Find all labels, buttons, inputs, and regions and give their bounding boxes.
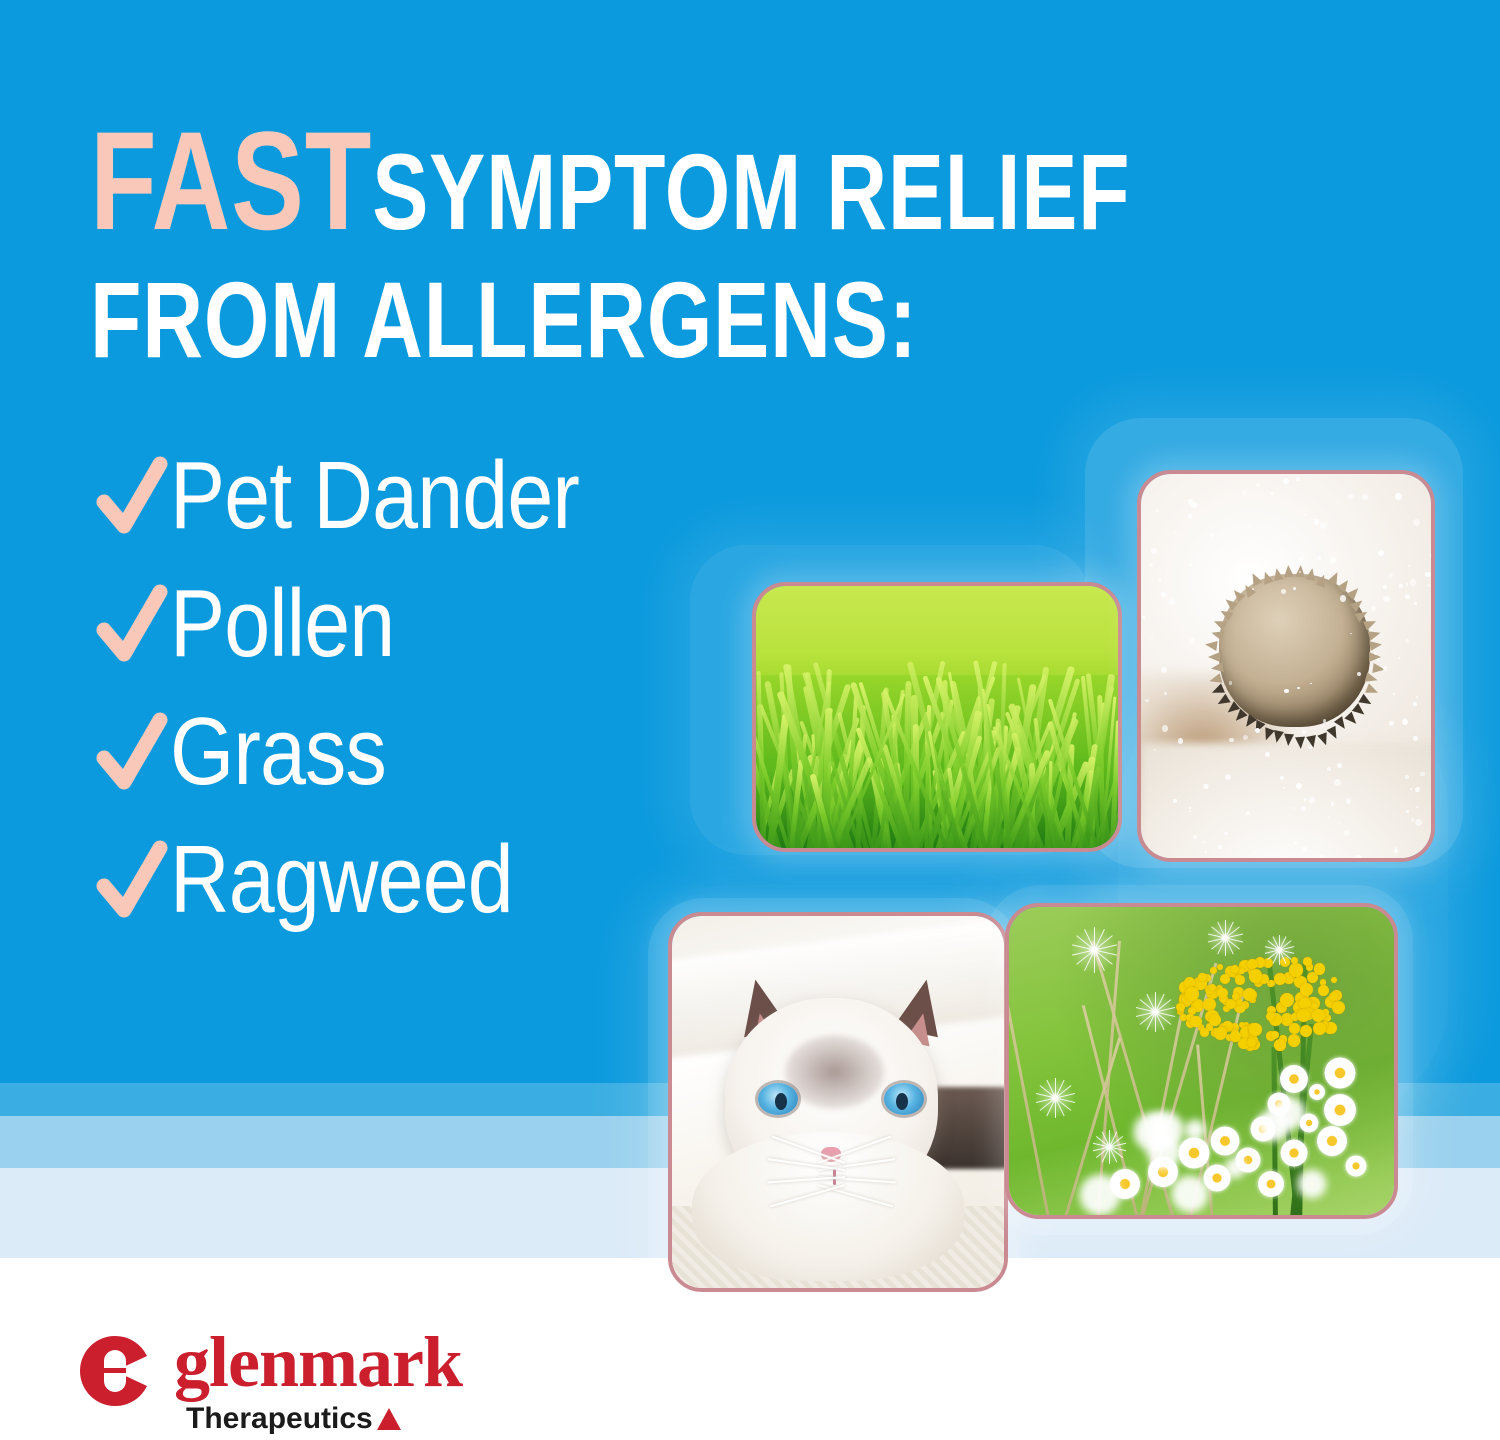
headline-line-2: FROM ALLERGENS: bbox=[90, 267, 1073, 373]
allergen-item-pollen: Pollen bbox=[96, 560, 736, 688]
headline-emphasis-word: FAST bbox=[90, 102, 372, 259]
allergen-item-pet-dander: Pet Dander bbox=[96, 432, 736, 560]
glenmark-wordmark: glenmark bbox=[174, 1326, 462, 1398]
grass-photo bbox=[752, 582, 1122, 852]
pollen-photo bbox=[1137, 470, 1435, 862]
glenmark-capsule-logo-icon bbox=[78, 1334, 152, 1408]
allergy-relief-advertisement: FASTSYMPTOM RELIEF FROM ALLERGENS: Pet D… bbox=[0, 0, 1500, 1440]
ragweed-photo bbox=[1005, 903, 1398, 1219]
headline: FASTSYMPTOM RELIEF FROM ALLERGENS: bbox=[90, 112, 1350, 373]
check-icon bbox=[96, 452, 170, 540]
headline-line-1-rest: SYMPTOM RELIEF bbox=[372, 131, 1130, 252]
red-triangle-icon bbox=[377, 1408, 401, 1430]
check-icon bbox=[96, 708, 170, 796]
allergen-label: Pollen bbox=[170, 576, 394, 672]
glenmark-logo: glenmark Therapeutics bbox=[78, 1332, 598, 1437]
allergen-item-grass: Grass bbox=[96, 688, 736, 816]
division-label: Therapeutics bbox=[186, 1402, 373, 1436]
check-icon bbox=[96, 836, 170, 924]
cat-photo bbox=[668, 912, 1008, 1292]
allergen-label: Pet Dander bbox=[170, 448, 579, 544]
allergen-checklist: Pet Dander Pollen Grass bbox=[96, 432, 736, 944]
glenmark-division: Therapeutics bbox=[186, 1402, 401, 1436]
check-icon bbox=[96, 580, 170, 668]
allergen-label: Grass bbox=[170, 704, 386, 800]
allergen-item-ragweed: Ragweed bbox=[96, 816, 736, 944]
headline-line-1: FASTSYMPTOM RELIEF bbox=[90, 112, 1073, 249]
allergen-label: Ragweed bbox=[170, 832, 513, 928]
